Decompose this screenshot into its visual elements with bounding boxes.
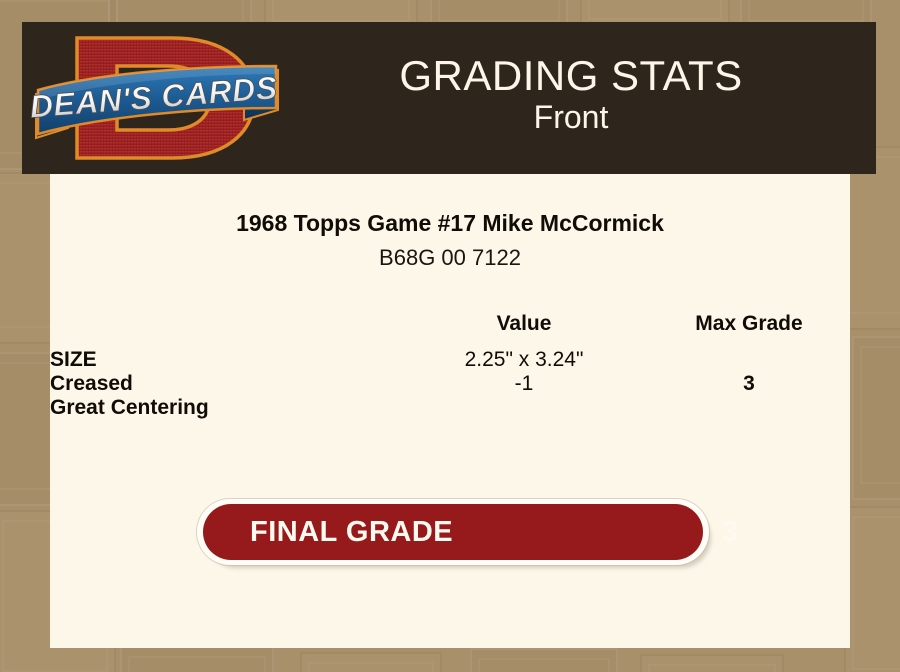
row-label-creased: Creased xyxy=(50,372,400,396)
watermark-card xyxy=(120,646,274,672)
row-max-grade-size xyxy=(648,348,850,372)
page-subtitle: Front xyxy=(290,97,852,137)
column-header-label xyxy=(50,312,400,348)
watermark-card xyxy=(852,336,900,500)
watermark-card xyxy=(640,654,784,672)
table-row: Creased -1 3 xyxy=(50,372,850,396)
watermark-card xyxy=(470,648,618,672)
row-value-great-centering xyxy=(400,396,648,420)
row-label-great-centering: Great Centering xyxy=(50,396,400,420)
row-label-size: SIZE xyxy=(50,348,400,372)
watermark-card xyxy=(300,652,442,672)
content-panel: 1968 Topps Game #17 Mike McCormick B68G … xyxy=(50,174,850,648)
final-grade-label: FINAL GRADE xyxy=(250,516,453,549)
grading-stats-table: Value Max Grade SIZE 2.25" x 3.24" Creas… xyxy=(50,312,850,420)
page-background: DEAN'S CARDS GRADING STATS Front 1968 To… xyxy=(0,0,900,672)
final-grade-value: 3 xyxy=(480,516,900,549)
row-max-grade-creased: 3 xyxy=(648,372,850,396)
deans-cards-logo[interactable]: DEAN'S CARDS xyxy=(22,22,290,174)
column-header-value: Value xyxy=(400,312,648,348)
column-header-max-grade: Max Grade xyxy=(648,312,850,348)
header-title-group: GRADING STATS Front xyxy=(290,55,876,142)
row-max-grade-great-centering xyxy=(648,396,850,420)
row-value-size: 2.25" x 3.24" xyxy=(400,348,648,372)
table-row: SIZE 2.25" x 3.24" xyxy=(50,348,850,372)
row-value-creased: -1 xyxy=(400,372,648,396)
page-title: GRADING STATS xyxy=(290,55,852,98)
table-header-row: Value Max Grade xyxy=(50,312,850,348)
table-row: Great Centering xyxy=(50,396,850,420)
page-header: DEAN'S CARDS GRADING STATS Front xyxy=(22,22,876,174)
final-grade-banner: FINAL GRADE 3 xyxy=(197,499,717,573)
card-title: 1968 Topps Game #17 Mike McCormick xyxy=(50,210,850,238)
final-grade-bar: FINAL GRADE 3 xyxy=(203,504,703,560)
card-serial-number: B68G 00 7122 xyxy=(50,245,850,271)
